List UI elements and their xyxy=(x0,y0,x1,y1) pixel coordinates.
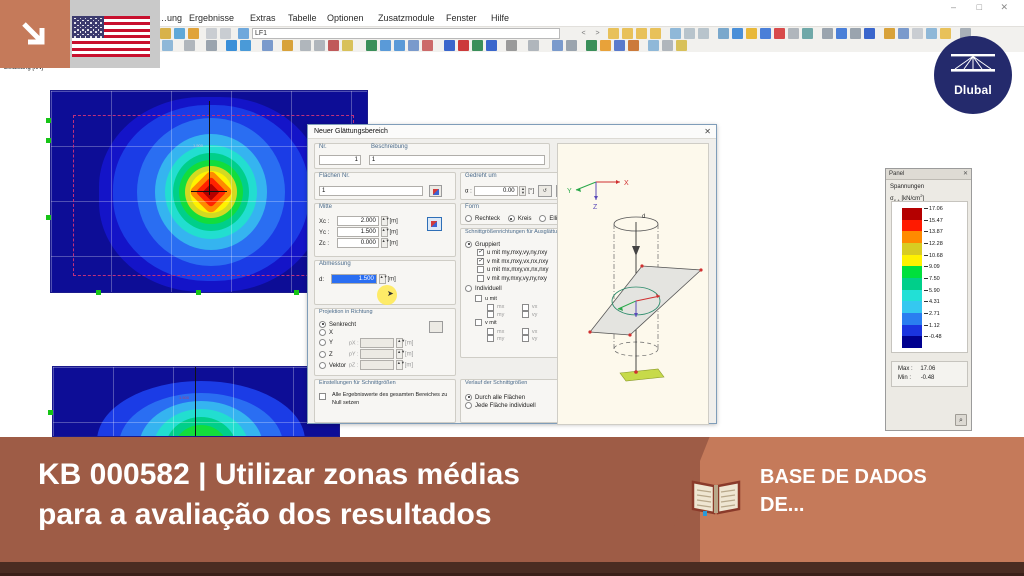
alpha-label: α : xyxy=(465,189,472,195)
dimension-label: 1.500 xyxy=(193,143,203,148)
flag-star xyxy=(74,31,76,33)
application-window: – □ ✕ – □ ✕ …ung Ergebnisse Extras Tabel… xyxy=(0,0,1024,437)
panel-caption-quantity: Spannungen xyxy=(886,180,971,191)
flag-star xyxy=(80,36,82,38)
node-marker xyxy=(96,290,101,295)
flag-star xyxy=(85,27,87,29)
menu-item-hilfe[interactable]: Hilfe xyxy=(491,12,509,25)
flag-star xyxy=(80,22,82,24)
flag-star xyxy=(100,27,102,29)
toolbar2-icon-view[interactable] xyxy=(184,40,195,51)
dialog-close-icon[interactable]: ✕ xyxy=(704,127,711,136)
legend-tick-label: 1.12 xyxy=(929,323,940,329)
mitte-pick-button[interactable] xyxy=(427,217,442,231)
toolbar-icon-measure[interactable] xyxy=(822,28,833,39)
projektion-option-z[interactable]: Z xyxy=(319,351,347,358)
individual-v-checkbox[interactable] xyxy=(475,319,482,326)
legend-min-label: Min : xyxy=(898,375,911,381)
alpha-input[interactable]: 0.00 xyxy=(474,186,518,196)
projektion-pz-spinner[interactable]: ▲▼ xyxy=(396,360,403,370)
flag-star xyxy=(90,18,92,20)
projektion-label-vektor: Vektor xyxy=(329,363,346,369)
window-maximize-button[interactable]: □ xyxy=(977,2,982,12)
legend-tick-label: 4.31 xyxy=(929,299,940,305)
field-caption-mitte: Mitte xyxy=(319,203,332,211)
individual-u-label: u mit xyxy=(485,296,518,302)
verlauf-radio-alle[interactable] xyxy=(465,394,472,401)
flag-star xyxy=(95,27,97,29)
flag-star xyxy=(87,20,89,22)
dialog-title: Neuer Glättungsbereich xyxy=(308,125,716,139)
axis-line-vertical-lower xyxy=(195,367,196,437)
toolbar2-icon-avg[interactable] xyxy=(614,40,625,51)
projektion-px-input[interactable] xyxy=(360,338,394,348)
schnitt-label-2: v mit mx,mxy,vx,nx,nxy xyxy=(487,259,548,265)
toolbar-icon-folder[interactable] xyxy=(188,28,199,39)
legend-swatch xyxy=(902,336,922,348)
legend-swatch xyxy=(902,290,922,302)
legend-swatch xyxy=(902,243,922,255)
menu-item-fenster[interactable]: Fenster xyxy=(446,12,477,25)
legend-tick-mark xyxy=(924,301,928,302)
color-legend: 17.0615.4713.8712.2810.689.097.505.904.3… xyxy=(891,201,968,353)
projektion-radio-z[interactable] xyxy=(319,351,326,358)
flag-star xyxy=(90,22,92,24)
plate-grid-lower xyxy=(53,367,339,436)
flag-star xyxy=(77,25,79,27)
load-case-combobox[interactable]: LF1 xyxy=(252,28,560,39)
projektion-px-spinner[interactable]: ▲▼ xyxy=(396,338,403,348)
chk-u-vy[interactable] xyxy=(522,311,529,318)
legend-tick-mark xyxy=(924,231,928,232)
menu-item-berechnung[interactable]: …ung xyxy=(158,12,182,25)
flag-star xyxy=(95,31,97,33)
legend-max-label: Max : xyxy=(898,366,913,372)
toolbar-icon-dimension[interactable] xyxy=(788,28,799,39)
toolbar2-icon-scale[interactable] xyxy=(506,40,517,51)
legend-tick-label: 7.50 xyxy=(929,276,940,282)
toolbar-icon-line[interactable] xyxy=(746,28,757,39)
flag-star xyxy=(77,29,79,31)
toolbar2-icon-smooth[interactable] xyxy=(586,40,597,51)
legend-min-value: -0.48 xyxy=(921,375,935,381)
toolbar2-icon-resulta[interactable] xyxy=(444,40,455,51)
toolbar-icon-support[interactable] xyxy=(760,28,771,39)
projektion-px-unit: [m] xyxy=(405,340,413,346)
alpha-unit: [°] xyxy=(528,189,534,195)
arrow-down-right-icon xyxy=(18,18,52,52)
schnitt-label-1: u mit my,mxy,vy,ny,nxy xyxy=(487,250,547,256)
toolbar-icon-guide[interactable] xyxy=(926,28,937,39)
mitte-input-xc[interactable]: 2.000 xyxy=(337,216,379,226)
panel-close-icon[interactable]: ✕ xyxy=(963,170,968,177)
toolbar-icon-table[interactable] xyxy=(206,28,217,39)
axis-line-vertical xyxy=(209,101,210,195)
abmessung-label: d: xyxy=(319,277,329,283)
projektion-row-vektor: Vektor pZ : ▲▼ [m] xyxy=(319,360,413,370)
node-marker xyxy=(46,118,51,123)
legend-tick-mark xyxy=(924,278,928,279)
legend-tick-mark xyxy=(924,336,928,337)
toolbar2-icon-clip[interactable] xyxy=(628,40,639,51)
toolbar2-icon-undo[interactable] xyxy=(262,40,273,51)
toolbar2-icon-transparent[interactable] xyxy=(394,40,405,51)
toolbar2-icon-misc1[interactable] xyxy=(648,40,659,51)
node-marker xyxy=(48,410,53,415)
banner-subtitle: BASE DE DADOS DE... xyxy=(760,463,1010,519)
projektion-pz-label: pZ : xyxy=(349,363,358,369)
legend-tick-mark xyxy=(924,220,928,221)
toolbar2-icon-wire[interactable] xyxy=(366,40,377,51)
flag-star xyxy=(85,18,87,20)
individual-u-row[interactable]: u mit xyxy=(475,295,508,302)
results-panel[interactable]: Panel ✕ Spannungen σx,+ [kN/cm2] 17.0615… xyxy=(885,168,972,431)
flag-star xyxy=(95,18,97,20)
chk-v-my[interactable] xyxy=(487,335,494,342)
flag-star xyxy=(74,18,76,20)
mitte-label-xc: Xc : xyxy=(319,219,335,225)
zoom-icon[interactable]: ⌕ xyxy=(955,414,967,426)
contour-plot-lower[interactable]: 1.500 xyxy=(52,366,340,437)
mitte-unit-xc: [m] xyxy=(389,219,397,225)
projektion-py-input[interactable] xyxy=(360,349,394,359)
flag-stripe xyxy=(72,54,150,57)
toolbar-icon-loadcase[interactable] xyxy=(238,28,249,39)
chk-v-vx[interactable] xyxy=(522,328,529,335)
flag-star xyxy=(95,22,97,24)
banner-subtitle-line2: DE... xyxy=(760,491,1010,519)
toolbar2-icon-color[interactable] xyxy=(422,40,433,51)
legend-minmax: Max : 17.06 Min : -0.48 xyxy=(891,361,968,387)
field-caption-gedreht: Gedreht um xyxy=(465,172,497,180)
projektion-row-y: Y pX : ▲▼ [m] xyxy=(319,338,413,348)
verlauf-label-individuell: Jede Fläche individuell xyxy=(475,403,536,409)
flag-star xyxy=(93,29,95,31)
toolbar-icon-hinge[interactable] xyxy=(774,28,785,39)
toolbar-icon-open[interactable] xyxy=(160,28,171,39)
legend-tick-mark xyxy=(924,325,928,326)
projektion-option-x[interactable]: X xyxy=(319,329,413,336)
projektion-label-senkrecht: Senkrecht xyxy=(329,322,356,328)
svg-text:Z: Z xyxy=(593,204,598,211)
legend-swatch xyxy=(902,208,922,220)
projektion-radio-x[interactable] xyxy=(319,329,326,336)
toolbar-icon-section[interactable] xyxy=(718,28,729,39)
toolbar2-icon-smoothregion[interactable] xyxy=(600,40,611,51)
form-radio-rechteck[interactable] xyxy=(465,215,472,222)
toolbar2-icon-axono[interactable] xyxy=(300,40,311,51)
toolbar-icon-printpreview[interactable] xyxy=(698,28,709,39)
mitte-label-yc: Yc : xyxy=(319,230,335,236)
legend-color-bar xyxy=(902,208,922,348)
flag-star xyxy=(100,22,102,24)
flag-star xyxy=(87,25,89,27)
flag-star xyxy=(85,22,87,24)
projektion-pick-button[interactable] xyxy=(429,321,443,333)
mitte-input-yc[interactable]: 1.500 xyxy=(337,227,379,237)
verlauf-radio-individuell[interactable] xyxy=(465,402,472,409)
flag-star xyxy=(93,25,95,27)
toolbar2-icon-misc3[interactable] xyxy=(676,40,687,51)
chk-v-vy[interactable] xyxy=(522,335,529,342)
toolbar2-icon-side[interactable] xyxy=(328,40,339,51)
toolbar-icon-render[interactable] xyxy=(670,28,681,39)
mitte-unit-zc: [m] xyxy=(389,241,397,247)
schnitt-radio-individuell[interactable] xyxy=(465,285,472,292)
mitte-spinner-zc[interactable]: ▲▼ xyxy=(381,238,388,248)
banner-title: KB 000582 | Utilizar zonas médias para a… xyxy=(38,455,648,535)
mitte-input-zc[interactable]: 0.000 xyxy=(337,238,379,248)
legend-tick-labels: 17.0615.4713.8712.2810.689.097.505.904.3… xyxy=(924,202,968,354)
flag-star xyxy=(90,27,92,29)
us-flag-icon xyxy=(72,16,150,57)
flag-star xyxy=(87,34,89,36)
toolbar2-icon-pan[interactable] xyxy=(206,40,217,51)
schnitt-label-individuell: Individuell xyxy=(475,286,502,292)
open-book-icon xyxy=(690,477,742,517)
toolbar-icon-node[interactable] xyxy=(732,28,743,39)
flag-star xyxy=(90,31,92,33)
projektion-label-y: Y xyxy=(329,340,333,346)
field-caption-beschreibung: Beschreibung xyxy=(371,143,408,151)
flag-star xyxy=(74,36,76,38)
abmessung-unit: [m] xyxy=(387,277,395,283)
node-marker xyxy=(196,290,201,295)
toolbar-icon-print[interactable] xyxy=(684,28,695,39)
node-marker xyxy=(294,290,299,295)
projektion-radio-vektor[interactable] xyxy=(319,362,326,369)
flag-star xyxy=(74,22,76,24)
alpha-spinner[interactable]: ▲▼ xyxy=(519,186,526,196)
chk-v-mx[interactable] xyxy=(487,328,494,335)
menu-item-optionen[interactable]: Optionen xyxy=(327,12,364,25)
bottom-banner: KB 000582 | Utilizar zonas médias para a… xyxy=(0,437,1024,576)
svg-text:d: d xyxy=(642,214,645,220)
menu-item-ergebnisse[interactable]: Ergebnisse xyxy=(189,12,234,25)
form-option-kreis[interactable]: Kreis xyxy=(508,215,532,222)
field-caption-verlauf: Verlauf der Schnittgrößen xyxy=(465,379,527,387)
node-marker xyxy=(46,215,51,220)
svg-text:Y: Y xyxy=(567,188,572,195)
individual-v-label: v mit xyxy=(485,320,518,326)
field-caption-flaechen: Flächen Nr. xyxy=(319,172,350,180)
panel-title: Panel xyxy=(886,169,971,180)
menu-item-extras[interactable]: Extras xyxy=(250,12,276,25)
flag-star xyxy=(100,31,102,33)
form-option-rechteck[interactable]: Rechteck xyxy=(465,215,500,222)
toolbar-icon-grid[interactable] xyxy=(220,28,231,39)
toolbar-icon-comment[interactable] xyxy=(174,28,185,39)
banner-bottom-strip xyxy=(0,562,1024,576)
window-close-button[interactable]: ✕ xyxy=(1000,2,1008,12)
dlubal-frame-icon xyxy=(951,54,995,80)
legend-swatch xyxy=(902,325,922,337)
schnitt-checkbox-1[interactable] xyxy=(477,249,484,256)
schnitt-label-gruppiert: Gruppiert xyxy=(475,242,500,248)
legend-tick-label: 15.47 xyxy=(929,218,943,224)
abmessung-input[interactable]: 1.500 xyxy=(331,274,377,284)
flag-star xyxy=(80,31,82,33)
projektion-py-unit: [m] xyxy=(405,352,413,358)
toolbar-icon-member[interactable] xyxy=(622,28,633,39)
nr-input[interactable]: 1 xyxy=(319,155,361,165)
form-radio-ellipse[interactable] xyxy=(539,215,546,222)
legend-tick-mark xyxy=(924,266,928,267)
svg-text:X: X xyxy=(624,180,629,187)
flag-star xyxy=(98,34,100,36)
toolbar-icon-rotate[interactable] xyxy=(836,28,847,39)
einstellungen-option[interactable]: Alle Ergebniswerte des gesamten Bereiche… xyxy=(319,392,449,407)
flag-star xyxy=(74,27,76,29)
legend-tick-label: 17.06 xyxy=(929,206,943,212)
toolbar-icon-ortho[interactable] xyxy=(898,28,909,39)
toolbar-icon-object[interactable] xyxy=(912,28,923,39)
toolbar2-icon-resultc[interactable] xyxy=(472,40,483,51)
schnitt-label-4: v mit my,mxy,vy,ny,nxy xyxy=(487,276,547,282)
schnitt-checkbox-4[interactable] xyxy=(477,275,484,282)
geometry-preview[interactable]: X Y Z d xyxy=(557,143,709,425)
mitte-spinner-xc[interactable]: ▲▼ xyxy=(381,216,388,226)
flag-star xyxy=(82,29,84,31)
einstellungen-checkbox[interactable] xyxy=(319,393,326,400)
legend-tick-label: 13.87 xyxy=(929,229,943,235)
flag-star xyxy=(82,20,84,22)
toolbar2-icon-filter[interactable] xyxy=(552,40,563,51)
flag-star xyxy=(95,36,97,38)
flag-star xyxy=(100,36,102,38)
banner-subtitle-line1: BASE DE DADOS xyxy=(760,463,1010,491)
schnitt-radio-gruppiert[interactable] xyxy=(465,241,472,248)
legend-tick-label: -0.48 xyxy=(929,334,942,340)
beschreibung-input[interactable]: 1 xyxy=(369,155,545,165)
toolbar2-icon-resultb[interactable] xyxy=(458,40,469,51)
mitte-label-zc: Zc : xyxy=(319,241,335,247)
chk-u-my[interactable] xyxy=(487,311,494,318)
toolbar-icon-flag[interactable] xyxy=(802,28,813,39)
legend-tick-label: 12.28 xyxy=(929,241,943,247)
mitte-spinner-yc[interactable]: ▲▼ xyxy=(381,227,388,237)
abmessung-spinner[interactable]: ▲▼ xyxy=(379,274,386,284)
projektion-radio-y[interactable] xyxy=(319,339,326,346)
verlauf-option-individuell[interactable]: Jede Fläche individuell xyxy=(465,402,536,409)
projektion-pz-input[interactable] xyxy=(360,360,394,370)
flag-star xyxy=(85,31,87,33)
einstellungen-label: Alle Ergebniswerte des gesamten Bereiche… xyxy=(332,392,449,407)
schnitt-checkbox-3[interactable] xyxy=(477,266,484,273)
individual-v-row[interactable]: v mit xyxy=(475,319,508,326)
individual-u-checkbox[interactable] xyxy=(475,295,482,302)
flag-star xyxy=(87,29,89,31)
toolbar2-icon-solidview[interactable] xyxy=(408,40,419,51)
toolbar2-icon-top[interactable] xyxy=(342,40,353,51)
toolbar2-icon-resultd[interactable] xyxy=(486,40,497,51)
toolbar-icon-delete[interactable] xyxy=(864,28,875,39)
flag-star xyxy=(85,36,87,38)
toolbar-icon-solid[interactable] xyxy=(650,28,661,39)
toolbar-icon-warning[interactable] xyxy=(850,28,861,39)
projektion-py-spinner[interactable]: ▲▼ xyxy=(396,349,403,359)
toolbar2-icon-iso[interactable] xyxy=(566,40,577,51)
chk-u-vx[interactable] xyxy=(522,304,529,311)
legend-tick-mark xyxy=(924,208,928,209)
projektion-option-y[interactable]: Y xyxy=(319,339,347,346)
nav-prev-button[interactable]: < xyxy=(578,28,589,39)
flag-star xyxy=(77,20,79,22)
new-smoothing-region-dialog[interactable]: Neuer Glättungsbereich ✕ Nr. Beschreibun… xyxy=(307,124,717,424)
toolbar-icon-layer[interactable] xyxy=(940,28,951,39)
preview-svg: X Y Z d xyxy=(558,144,710,426)
toolbar2-icon-zoomwin[interactable] xyxy=(240,40,251,51)
schnitt-checkbox-2[interactable] xyxy=(477,258,484,265)
flag-star xyxy=(90,36,92,38)
flaechen-input[interactable]: 1 xyxy=(319,186,423,196)
projektion-radio-senkrecht[interactable] xyxy=(319,321,326,328)
menu-item-zusatzmodule[interactable]: Zusatzmodule xyxy=(378,12,435,25)
verlauf-label-alle: Durch alle Flächen xyxy=(475,395,525,401)
field-caption-form: Form xyxy=(465,203,479,211)
projektion-option-vektor[interactable]: Vektor xyxy=(319,362,347,369)
window-minimize-button[interactable]: – xyxy=(951,2,956,12)
toolbar2-icon-front[interactable] xyxy=(314,40,325,51)
mouse-pointer-icon: ➤ xyxy=(387,289,394,298)
flag-star xyxy=(82,25,84,27)
projektion-label-x: X xyxy=(329,330,333,336)
toolbar-icon-deform[interactable] xyxy=(608,28,619,39)
flag-overlay xyxy=(0,0,160,68)
dimension-label-lower: 1.500 xyxy=(179,395,189,400)
toolbar2-icon-shade[interactable] xyxy=(380,40,391,51)
flaechen-pick-button[interactable] xyxy=(429,185,442,197)
toolbar2-icon-settings[interactable] xyxy=(528,40,539,51)
toolbar2-icon-misc2[interactable] xyxy=(662,40,673,51)
projektion-py-label: pY : xyxy=(349,352,359,358)
legend-swatch xyxy=(902,313,922,325)
nav-next-button[interactable]: > xyxy=(592,28,603,39)
axis-line-horizontal xyxy=(191,191,227,192)
toolbar2-icon-select[interactable] xyxy=(162,40,173,51)
flag-star xyxy=(80,27,82,29)
field-caption-projektion: Projektion in Richtung xyxy=(319,308,373,316)
mitte-row-zc: Zc : 0.000 ▲▼ [m] xyxy=(319,238,398,248)
form-label-kreis: Kreis xyxy=(518,216,532,222)
rotate-ccw-button[interactable]: ↺ xyxy=(538,185,552,197)
form-label-rechteck: Rechteck xyxy=(475,216,500,222)
schnitt-label-3: u mit mx,mxy,vx,nx,nxy xyxy=(487,267,549,273)
arrow-badge xyxy=(0,0,70,68)
flag-star xyxy=(98,20,100,22)
field-caption-nr: Nr. xyxy=(319,143,327,151)
flag-star xyxy=(98,25,100,27)
toolbar-icon-surface[interactable] xyxy=(636,28,647,39)
legend-tick-mark xyxy=(924,255,928,256)
field-caption-schnitt: Schnittgrößenrichtungen für Ausglättung xyxy=(465,228,563,236)
node-marker xyxy=(46,138,51,143)
projektion-option-senkrecht[interactable]: Senkrecht xyxy=(319,321,413,328)
projektion-px-label: pX : xyxy=(349,340,359,346)
verlauf-option-alle[interactable]: Durch alle Flächen xyxy=(465,394,536,401)
mitte-row-yc: Yc : 1.500 ▲▼ [m] xyxy=(319,227,398,237)
banner-title-line2: para a avaliação dos resultados xyxy=(38,495,648,535)
legend-tick-mark xyxy=(924,243,928,244)
toolbar2-icon-zoomall[interactable] xyxy=(226,40,237,51)
legend-swatch xyxy=(902,255,922,267)
toolbar2-icon-redo[interactable] xyxy=(282,40,293,51)
menu-item-tabelle[interactable]: Tabelle xyxy=(288,12,317,25)
chk-u-mx[interactable] xyxy=(487,304,494,311)
toolbar-icon-snap[interactable] xyxy=(884,28,895,39)
dlubal-logo: Dlubal xyxy=(934,36,1012,114)
form-radio-kreis[interactable] xyxy=(508,215,515,222)
